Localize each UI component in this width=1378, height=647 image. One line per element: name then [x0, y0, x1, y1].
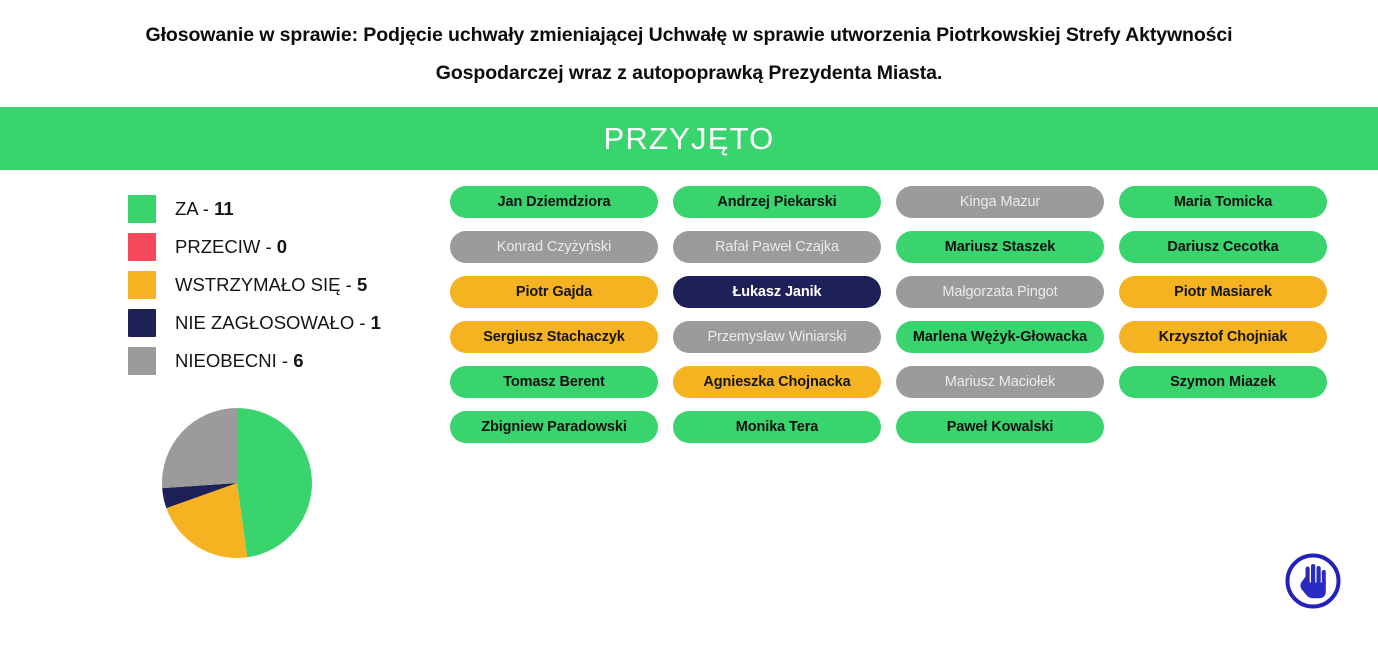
legend-label-nieobecni: NIEOBECNI - 6: [175, 350, 304, 372]
voter-pill[interactable]: Małgorzata Pingot: [896, 276, 1104, 308]
legend-count: 0: [277, 236, 287, 257]
voter-pill[interactable]: Przemysław Winiarski: [673, 321, 881, 353]
voting-result-banner: PRZYJĘTO: [0, 107, 1378, 170]
voter-pill[interactable]: Tomasz Berent: [450, 366, 658, 398]
legend-swatch-nieobecni: [128, 347, 156, 375]
legend-label-nie_zaglosowalo: NIE ZAGŁOSOWAŁO - 1: [175, 312, 381, 334]
voter-pill[interactable]: Szymon Miazek: [1119, 366, 1327, 398]
page-title-line-2: Gospodarczej wraz z autopoprawką Prezyde…: [40, 54, 1338, 92]
voter-pill[interactable]: Zbigniew Paradowski: [450, 411, 658, 443]
legend-row-nieobecni: NIEOBECNI - 6: [128, 342, 428, 380]
raised-hand-vote-logo: [1283, 551, 1343, 611]
voter-pill[interactable]: Piotr Gajda: [450, 276, 658, 308]
voter-pill[interactable]: Andrzej Piekarski: [673, 186, 881, 218]
legend-count: 11: [214, 198, 234, 219]
legend-row-wstrzymalo_sie: WSTRZYMAŁO SIĘ - 5: [128, 266, 428, 304]
voter-pill[interactable]: Maria Tomicka: [1119, 186, 1327, 218]
pie-slice-za: [237, 408, 312, 557]
voter-pill[interactable]: Konrad Czyżyński: [450, 231, 658, 263]
legend-separator: -: [198, 198, 214, 219]
voter-pill[interactable]: Paweł Kowalski: [896, 411, 1104, 443]
legend-row-nie_zaglosowalo: NIE ZAGŁOSOWAŁO - 1: [128, 304, 428, 342]
page-title: Głosowanie w sprawie: Podjęcie uchwały z…: [0, 0, 1378, 107]
voter-pill[interactable]: Dariusz Cecotka: [1119, 231, 1327, 263]
page-title-line-1: Głosowanie w sprawie: Podjęcie uchwały z…: [40, 16, 1338, 54]
legend-text: WSTRZYMAŁO SIĘ: [175, 274, 341, 295]
legend-count: 1: [371, 312, 381, 333]
legend-swatch-wstrzymalo_sie: [128, 271, 156, 299]
legend-swatch-przeciw: [128, 233, 156, 261]
voter-pill[interactable]: Marlena Wężyk-Głowacka: [896, 321, 1104, 353]
voter-pill[interactable]: Sergiusz Stachaczyk: [450, 321, 658, 353]
legend-text: NIEOBECNI: [175, 350, 277, 371]
legend-text: NIE ZAGŁOSOWAŁO: [175, 312, 354, 333]
legend-row-przeciw: PRZECIW - 0: [128, 228, 428, 266]
voter-pill[interactable]: Jan Dziemdziora: [450, 186, 658, 218]
voter-pill[interactable]: Monika Tera: [673, 411, 881, 443]
legend-label-za: ZA - 11: [175, 198, 234, 220]
vote-legend: ZA - 11PRZECIW - 0WSTRZYMAŁO SIĘ - 5NIE …: [128, 190, 428, 380]
voter-list: Jan DziemdzioraAndrzej PiekarskiKinga Ma…: [450, 186, 1350, 443]
voter-pill[interactable]: Piotr Masiarek: [1119, 276, 1327, 308]
voter-pill[interactable]: Kinga Mazur: [896, 186, 1104, 218]
legend-label-wstrzymalo_sie: WSTRZYMAŁO SIĘ - 5: [175, 274, 367, 296]
legend-text: ZA: [175, 198, 198, 219]
legend-text: PRZECIW: [175, 236, 260, 257]
legend-swatch-nie_zaglosowalo: [128, 309, 156, 337]
legend-count: 6: [293, 350, 303, 371]
voter-pill[interactable]: Rafał Paweł Czajka: [673, 231, 881, 263]
legend-separator: -: [354, 312, 370, 333]
vote-pie-chart: [161, 407, 313, 559]
result-status-text: PRZYJĘTO: [604, 123, 775, 154]
voter-pill[interactable]: Mariusz Staszek: [896, 231, 1104, 263]
legend-count: 5: [357, 274, 367, 295]
legend-row-za: ZA - 11: [128, 190, 428, 228]
legend-label-przeciw: PRZECIW - 0: [175, 236, 287, 258]
legend-separator: -: [277, 350, 293, 371]
legend-swatch-za: [128, 195, 156, 223]
voter-pill[interactable]: Mariusz Maciołek: [896, 366, 1104, 398]
legend-separator: -: [341, 274, 357, 295]
legend-separator: -: [260, 236, 276, 257]
voter-pill-empty: [1119, 411, 1327, 443]
pie-slice-nieobecni: [162, 408, 237, 488]
voter-pill[interactable]: Krzysztof Chojniak: [1119, 321, 1327, 353]
voter-pill[interactable]: Łukasz Janik: [673, 276, 881, 308]
voter-pill[interactable]: Agnieszka Chojnacka: [673, 366, 881, 398]
